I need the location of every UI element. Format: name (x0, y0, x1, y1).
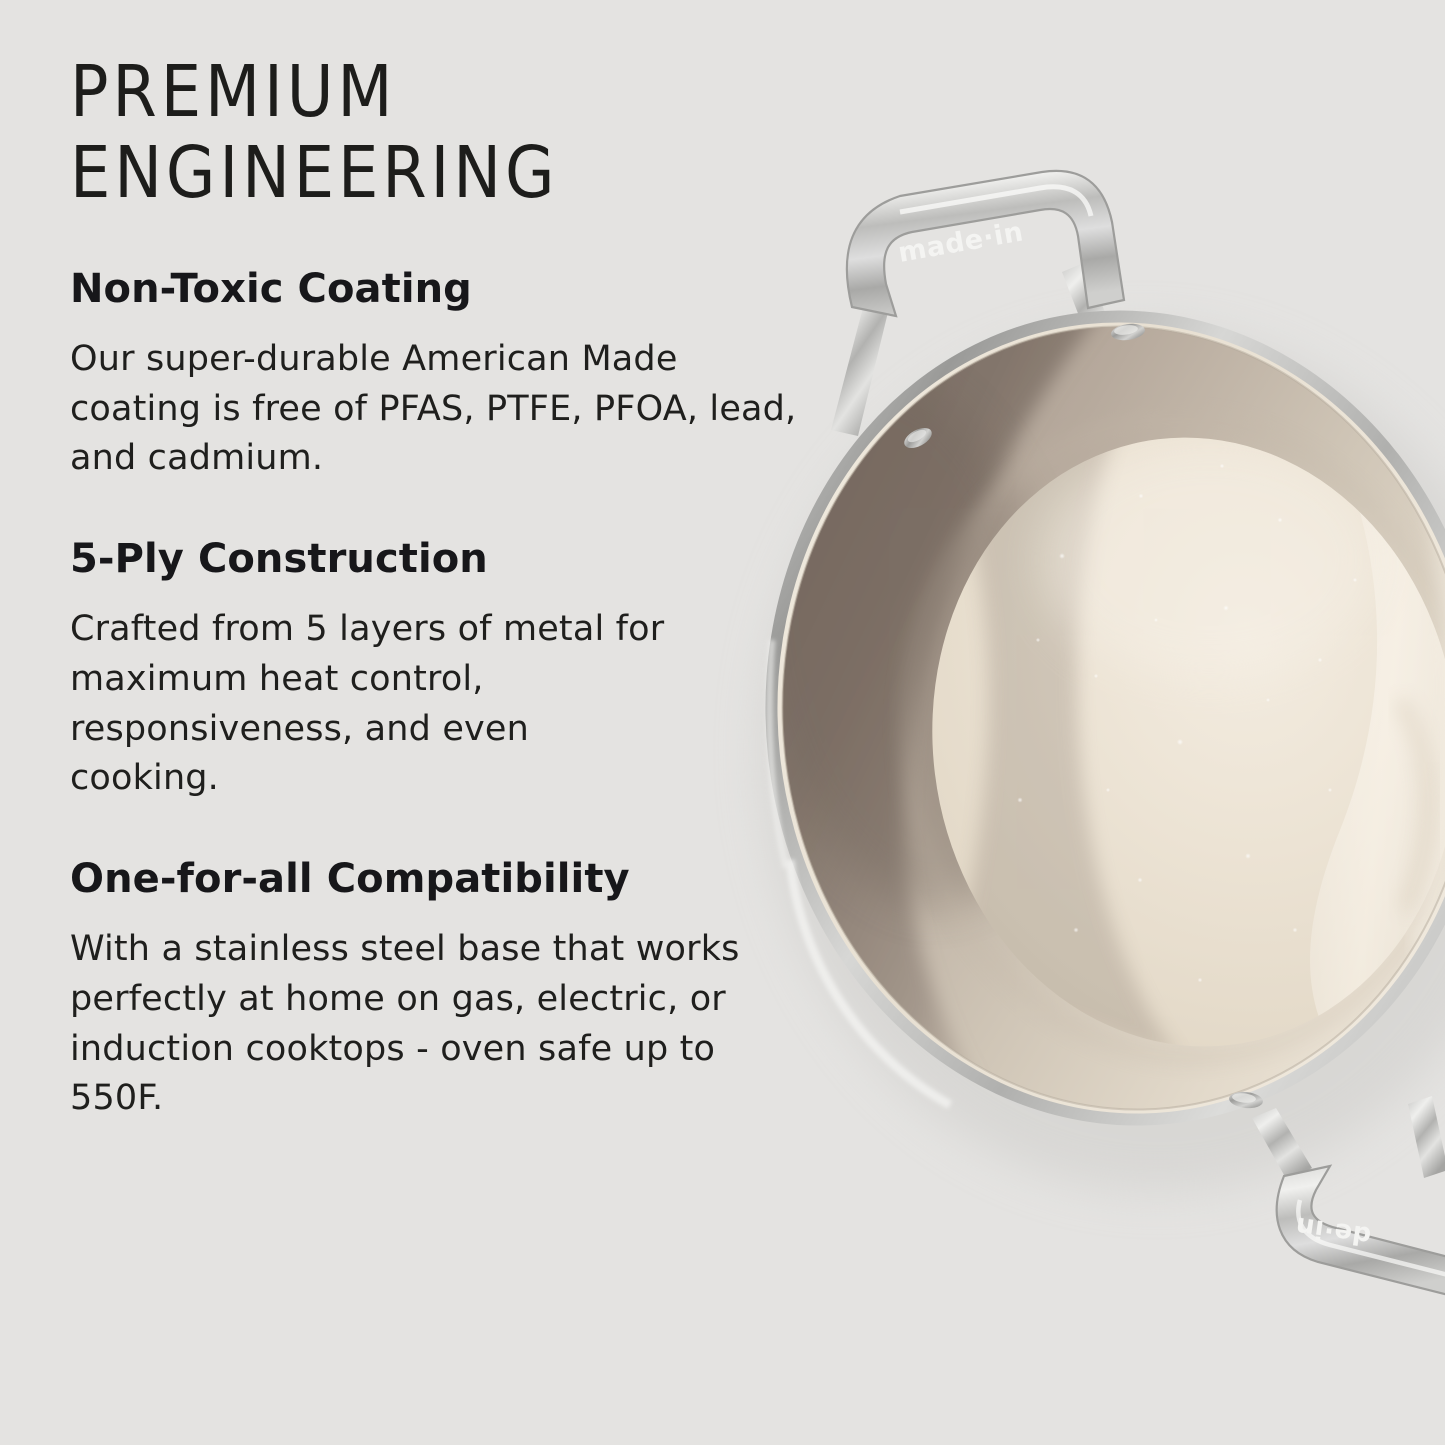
handle-top-left: made·in (831, 171, 1124, 436)
cooking-surface (898, 400, 1445, 1077)
feature-body: Our super-durable American Made coating … (70, 335, 800, 484)
feature-non-toxic-coating: Non-Toxic Coating Our super-durable Amer… (70, 266, 810, 484)
pot-drop-shadow (719, 290, 1445, 1230)
rivet-left (901, 424, 935, 452)
handle-bottom-right: de·in (1252, 1096, 1445, 1300)
feature-one-for-all-compatibility: One-for-all Compatibility With a stainle… (70, 856, 810, 1124)
pot-body (700, 240, 1445, 1162)
feature-5-ply-construction: 5-Ply Construction Crafted from 5 layers… (70, 536, 810, 804)
page-title: PREMIUM ENGINEERING (70, 52, 810, 214)
brand-engraving-bottom: de·in (1293, 1210, 1373, 1250)
feature-body: Crafted from 5 layers of metal for maxim… (70, 605, 670, 804)
rivet-bottom (1228, 1090, 1263, 1109)
feature-body: With a stainless steel base that works p… (70, 925, 790, 1124)
brand-engraving-top: made·in (896, 216, 1026, 268)
ceramic-speckles (1017, 464, 1357, 983)
rivet-top (1110, 322, 1146, 343)
feature-title: 5-Ply Construction (70, 536, 810, 583)
copy-column: PREMIUM ENGINEERING Non-Toxic Coating Ou… (70, 52, 810, 1124)
feature-title: Non-Toxic Coating (70, 266, 810, 313)
feature-title: One-for-all Compatibility (70, 856, 810, 903)
product-feature-graphic: made·in (0, 0, 1445, 1445)
